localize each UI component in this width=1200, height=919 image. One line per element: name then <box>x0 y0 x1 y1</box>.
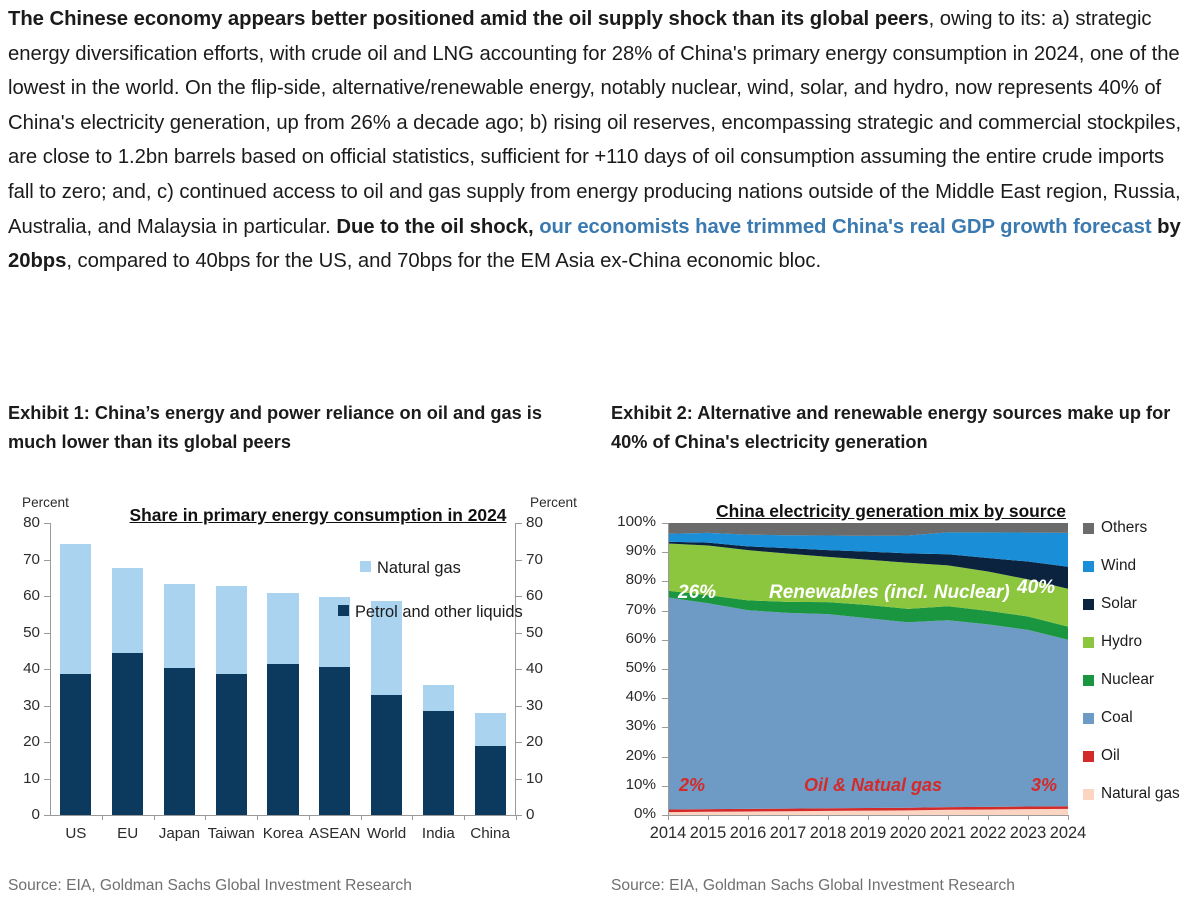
chart2-legend-label: Oil <box>1101 747 1193 765</box>
chart1-x-tick <box>257 815 258 820</box>
chart1-bar-segment-petrol <box>60 674 91 815</box>
chart1-y-tick <box>516 596 522 597</box>
chart1-y-tick-label-left: 50 <box>10 627 40 639</box>
chart2-legend-item[interactable]: Others <box>1083 519 1193 537</box>
chart2-legend-swatch-icon <box>1083 599 1094 610</box>
chart1-y-tick <box>516 669 522 670</box>
chart2-y-tick-label: 20% <box>611 750 656 762</box>
chart1-bar-segment-natural-gas <box>475 713 506 746</box>
chart1-right-axis-unit: Percent <box>530 495 577 510</box>
chart2-legend-item[interactable]: Nuclear <box>1083 671 1193 689</box>
body-segment-2: , owing to its: a) strategic energy dive… <box>8 8 1181 238</box>
chart2-x-tick <box>988 815 989 820</box>
chart1-y-tick <box>516 633 522 634</box>
chart1-bar-segment-petrol <box>216 674 247 815</box>
chart2-y-tick-label: 0% <box>611 808 656 820</box>
chart2-legend-label: Natural gas <box>1101 785 1193 803</box>
exhibit-1-heading: Exhibit 1: China’s energy and power reli… <box>8 399 568 457</box>
chart1-bar <box>319 597 350 815</box>
chart1-y-tick <box>516 742 522 743</box>
chart2-x-tick <box>668 815 669 820</box>
chart2-x-tick <box>788 815 789 820</box>
chart2-y-tick <box>662 523 668 524</box>
chart1-bar <box>423 685 454 815</box>
chart1-x-tick <box>205 815 206 820</box>
chart1-baseline <box>50 815 516 816</box>
chart1-bar-segment-natural-gas <box>164 584 195 667</box>
exhibit-1-source: Source: EIA, Goldman Sachs Global Invest… <box>8 877 412 895</box>
chart2-legend-item[interactable]: Solar <box>1083 595 1193 613</box>
chart2-legend-label: Solar <box>1101 595 1193 613</box>
chart2-legend-swatch-icon <box>1083 637 1094 648</box>
chart2-y-tick-label: 70% <box>611 604 656 616</box>
chart2-y-tick <box>662 786 668 787</box>
chart1-x-tick <box>361 815 362 820</box>
chart1-y-tick-label-right: 70 <box>526 554 558 566</box>
chart2-legend-label: Coal <box>1101 709 1193 727</box>
chart2-area-svg <box>668 523 1068 815</box>
chart2-annotation-oil-2024: 3% <box>1031 775 1057 796</box>
chart2-x-tick <box>828 815 829 820</box>
chart2-y-tick-label: 40% <box>611 691 656 703</box>
chart2-y-tick <box>662 757 668 758</box>
chart2-y-tick-label: 30% <box>611 720 656 732</box>
chart1-bar <box>60 544 91 815</box>
chart2-annotation-oil-2014: 2% <box>679 775 705 796</box>
chart1-x-tick <box>102 815 103 820</box>
chart1-y-tick-label-right: 50 <box>526 627 558 639</box>
chart1-left-axis-unit: Percent <box>22 495 69 510</box>
body-bold-due-to: Due to the oil shock, <box>336 216 539 238</box>
chart1-y-tick <box>44 560 50 561</box>
chart1-y-tick-label-left: 60 <box>10 590 40 602</box>
chart1-y-tick <box>44 815 50 816</box>
chart1-bar-segment-petrol <box>371 695 402 815</box>
chart1-legend-item[interactable]: Petrol and other liquids <box>338 603 523 622</box>
chart2-x-tick <box>748 815 749 820</box>
chart2-legend-swatch-icon <box>1083 789 1094 800</box>
chart1-y-tick-label-left: 0 <box>10 809 40 821</box>
chart2-legend-item[interactable]: Coal <box>1083 709 1193 727</box>
chart1-category-label: China <box>450 827 530 841</box>
chart1-bar-segment-petrol <box>112 653 143 815</box>
chart1-x-tick <box>154 815 155 820</box>
chart1-y-tick <box>44 523 50 524</box>
chart1-legend-swatch-icon <box>338 605 349 616</box>
chart1-bar <box>267 593 298 815</box>
chart2-y-tick <box>662 727 668 728</box>
chart2-x-tick <box>868 815 869 820</box>
chart2-y-tick-label: 60% <box>611 633 656 645</box>
chart2-legend-item[interactable]: Hydro <box>1083 633 1193 651</box>
chart2-legend: OthersWindSolarHydroNuclearCoalOilNatura… <box>1083 519 1193 803</box>
chart2-y-tick <box>662 552 668 553</box>
chart2-legend-swatch-icon <box>1083 675 1094 686</box>
chart2-plot-area <box>668 523 1068 815</box>
chart1-bar <box>164 584 195 815</box>
chart2-legend-swatch-icon <box>1083 561 1094 572</box>
chart1-y-tick <box>44 742 50 743</box>
chart2-legend-label: Nuclear <box>1101 671 1193 689</box>
report-page: The Chinese economy appears better posit… <box>0 0 1200 919</box>
chart2-y-tick <box>662 669 668 670</box>
chart1-bar-segment-natural-gas <box>423 685 454 711</box>
chart1-y-tick-label-right: 80 <box>526 517 558 529</box>
chart2-legend-label: Hydro <box>1101 633 1193 651</box>
body-link-gdp-forecast[interactable]: our economists have trimmed China's real… <box>539 216 1151 238</box>
chart2-legend-label: Others <box>1101 519 1193 537</box>
chart1-bar-segment-natural-gas <box>267 593 298 664</box>
chart1-y-tick <box>44 706 50 707</box>
chart2-axis-line <box>668 523 669 815</box>
chart2-y-tick <box>662 581 668 582</box>
chart2-annotation-renewables-2024: 40% <box>1017 577 1055 599</box>
chart1-y-tick <box>44 633 50 634</box>
chart1-y-tick-label-left: 20 <box>10 736 40 748</box>
chart1-bar <box>216 586 247 815</box>
chart1-x-tick <box>412 815 413 820</box>
chart1-y-tick-label-left: 80 <box>10 517 40 529</box>
chart1-bar-segment-natural-gas <box>216 586 247 675</box>
chart1-legend-label: Petrol and other liquids <box>355 603 523 621</box>
chart1-y-tick-label-right: 60 <box>526 590 558 602</box>
chart2-y-tick-label: 50% <box>611 662 656 674</box>
chart1-x-tick <box>464 815 465 820</box>
chart1-y-tick <box>44 669 50 670</box>
chart1-bar-segment-natural-gas <box>60 544 91 674</box>
chart1-y-tick <box>516 560 522 561</box>
chart1-bar-segment-petrol <box>423 711 454 815</box>
chart2-legend-item[interactable]: Natural gas <box>1083 785 1193 803</box>
chart2-y-tick <box>662 698 668 699</box>
body-lead-bold: The Chinese economy appears better posit… <box>8 8 929 30</box>
chart1-y-tick-label-right: 0 <box>526 809 558 821</box>
chart2-title: China electricity generation mix by sour… <box>681 501 1101 522</box>
exhibit-2-chart: China electricity generation mix by sour… <box>611 495 1194 860</box>
chart1-y-tick-label-right: 10 <box>526 773 558 785</box>
chart1-bar-segment-petrol <box>319 667 350 815</box>
chart1-bar-segment-petrol <box>475 746 506 815</box>
chart2-annotation-oil-label: Oil & Natual gas <box>804 775 942 796</box>
chart2-x-tick <box>1068 815 1069 820</box>
chart1-legend-item[interactable]: Natural gas <box>360 559 461 578</box>
chart1-y-tick-label-left: 40 <box>10 663 40 675</box>
exhibit-1-chart: Percent Percent Share in primary energy … <box>8 495 592 860</box>
chart2-legend-item[interactable]: Wind <box>1083 557 1193 575</box>
chart1-y-tick <box>516 706 522 707</box>
chart2-x-tick-label: 2024 <box>1044 826 1092 840</box>
chart1-bar <box>112 568 143 815</box>
chart1-y-tick <box>516 523 522 524</box>
chart2-legend-label: Wind <box>1101 557 1193 575</box>
chart1-y-tick-label-right: 20 <box>526 736 558 748</box>
chart2-y-tick-label: 80% <box>611 574 656 586</box>
chart1-y-tick <box>44 596 50 597</box>
chart1-bar <box>475 713 506 815</box>
exhibit-2-source: Source: EIA, Goldman Sachs Global Invest… <box>611 877 1015 895</box>
chart1-y-tick <box>44 779 50 780</box>
chart2-x-tick <box>1028 815 1029 820</box>
chart1-y-tick-label-left: 70 <box>10 554 40 566</box>
chart1-legend-swatch-icon <box>360 561 371 572</box>
chart1-axis-line <box>50 523 51 815</box>
chart2-y-tick-label: 100% <box>611 516 656 528</box>
chart2-x-tick <box>948 815 949 820</box>
chart1-y-tick-label-right: 40 <box>526 663 558 675</box>
chart1-bar-segment-petrol <box>164 668 195 815</box>
chart1-y-tick-label-left: 10 <box>10 773 40 785</box>
chart2-x-tick <box>708 815 709 820</box>
chart1-y-tick <box>516 779 522 780</box>
chart1-x-tick <box>516 815 517 820</box>
chart2-y-tick-label: 90% <box>611 545 656 557</box>
chart1-bar <box>371 601 402 815</box>
chart2-legend-item[interactable]: Oil <box>1083 747 1193 765</box>
chart1-bar-segment-natural-gas <box>112 568 143 653</box>
chart1-bar-segment-petrol <box>267 664 298 815</box>
chart2-y-tick <box>662 640 668 641</box>
body-paragraph: The Chinese economy appears better posit… <box>8 2 1194 279</box>
exhibit-2-heading: Exhibit 2: Alternative and renewable ene… <box>611 399 1191 457</box>
chart2-annotation-renewables-2014: 26% <box>678 582 716 604</box>
chart1-y-tick-label-left: 30 <box>10 700 40 712</box>
chart1-y-tick-label-right: 30 <box>526 700 558 712</box>
chart2-y-tick <box>662 611 668 612</box>
body-segment-3: , compared to 40bps for the US, and 70bp… <box>66 250 821 272</box>
chart2-legend-swatch-icon <box>1083 713 1094 724</box>
chart2-annotation-renewables-label: Renewables (incl. Nuclear) <box>769 582 1010 604</box>
chart2-x-tick <box>908 815 909 820</box>
chart1-x-tick <box>309 815 310 820</box>
chart2-legend-swatch-icon <box>1083 751 1094 762</box>
chart2-legend-swatch-icon <box>1083 523 1094 534</box>
chart2-y-tick-label: 10% <box>611 779 656 791</box>
chart1-legend-label: Natural gas <box>377 559 461 577</box>
